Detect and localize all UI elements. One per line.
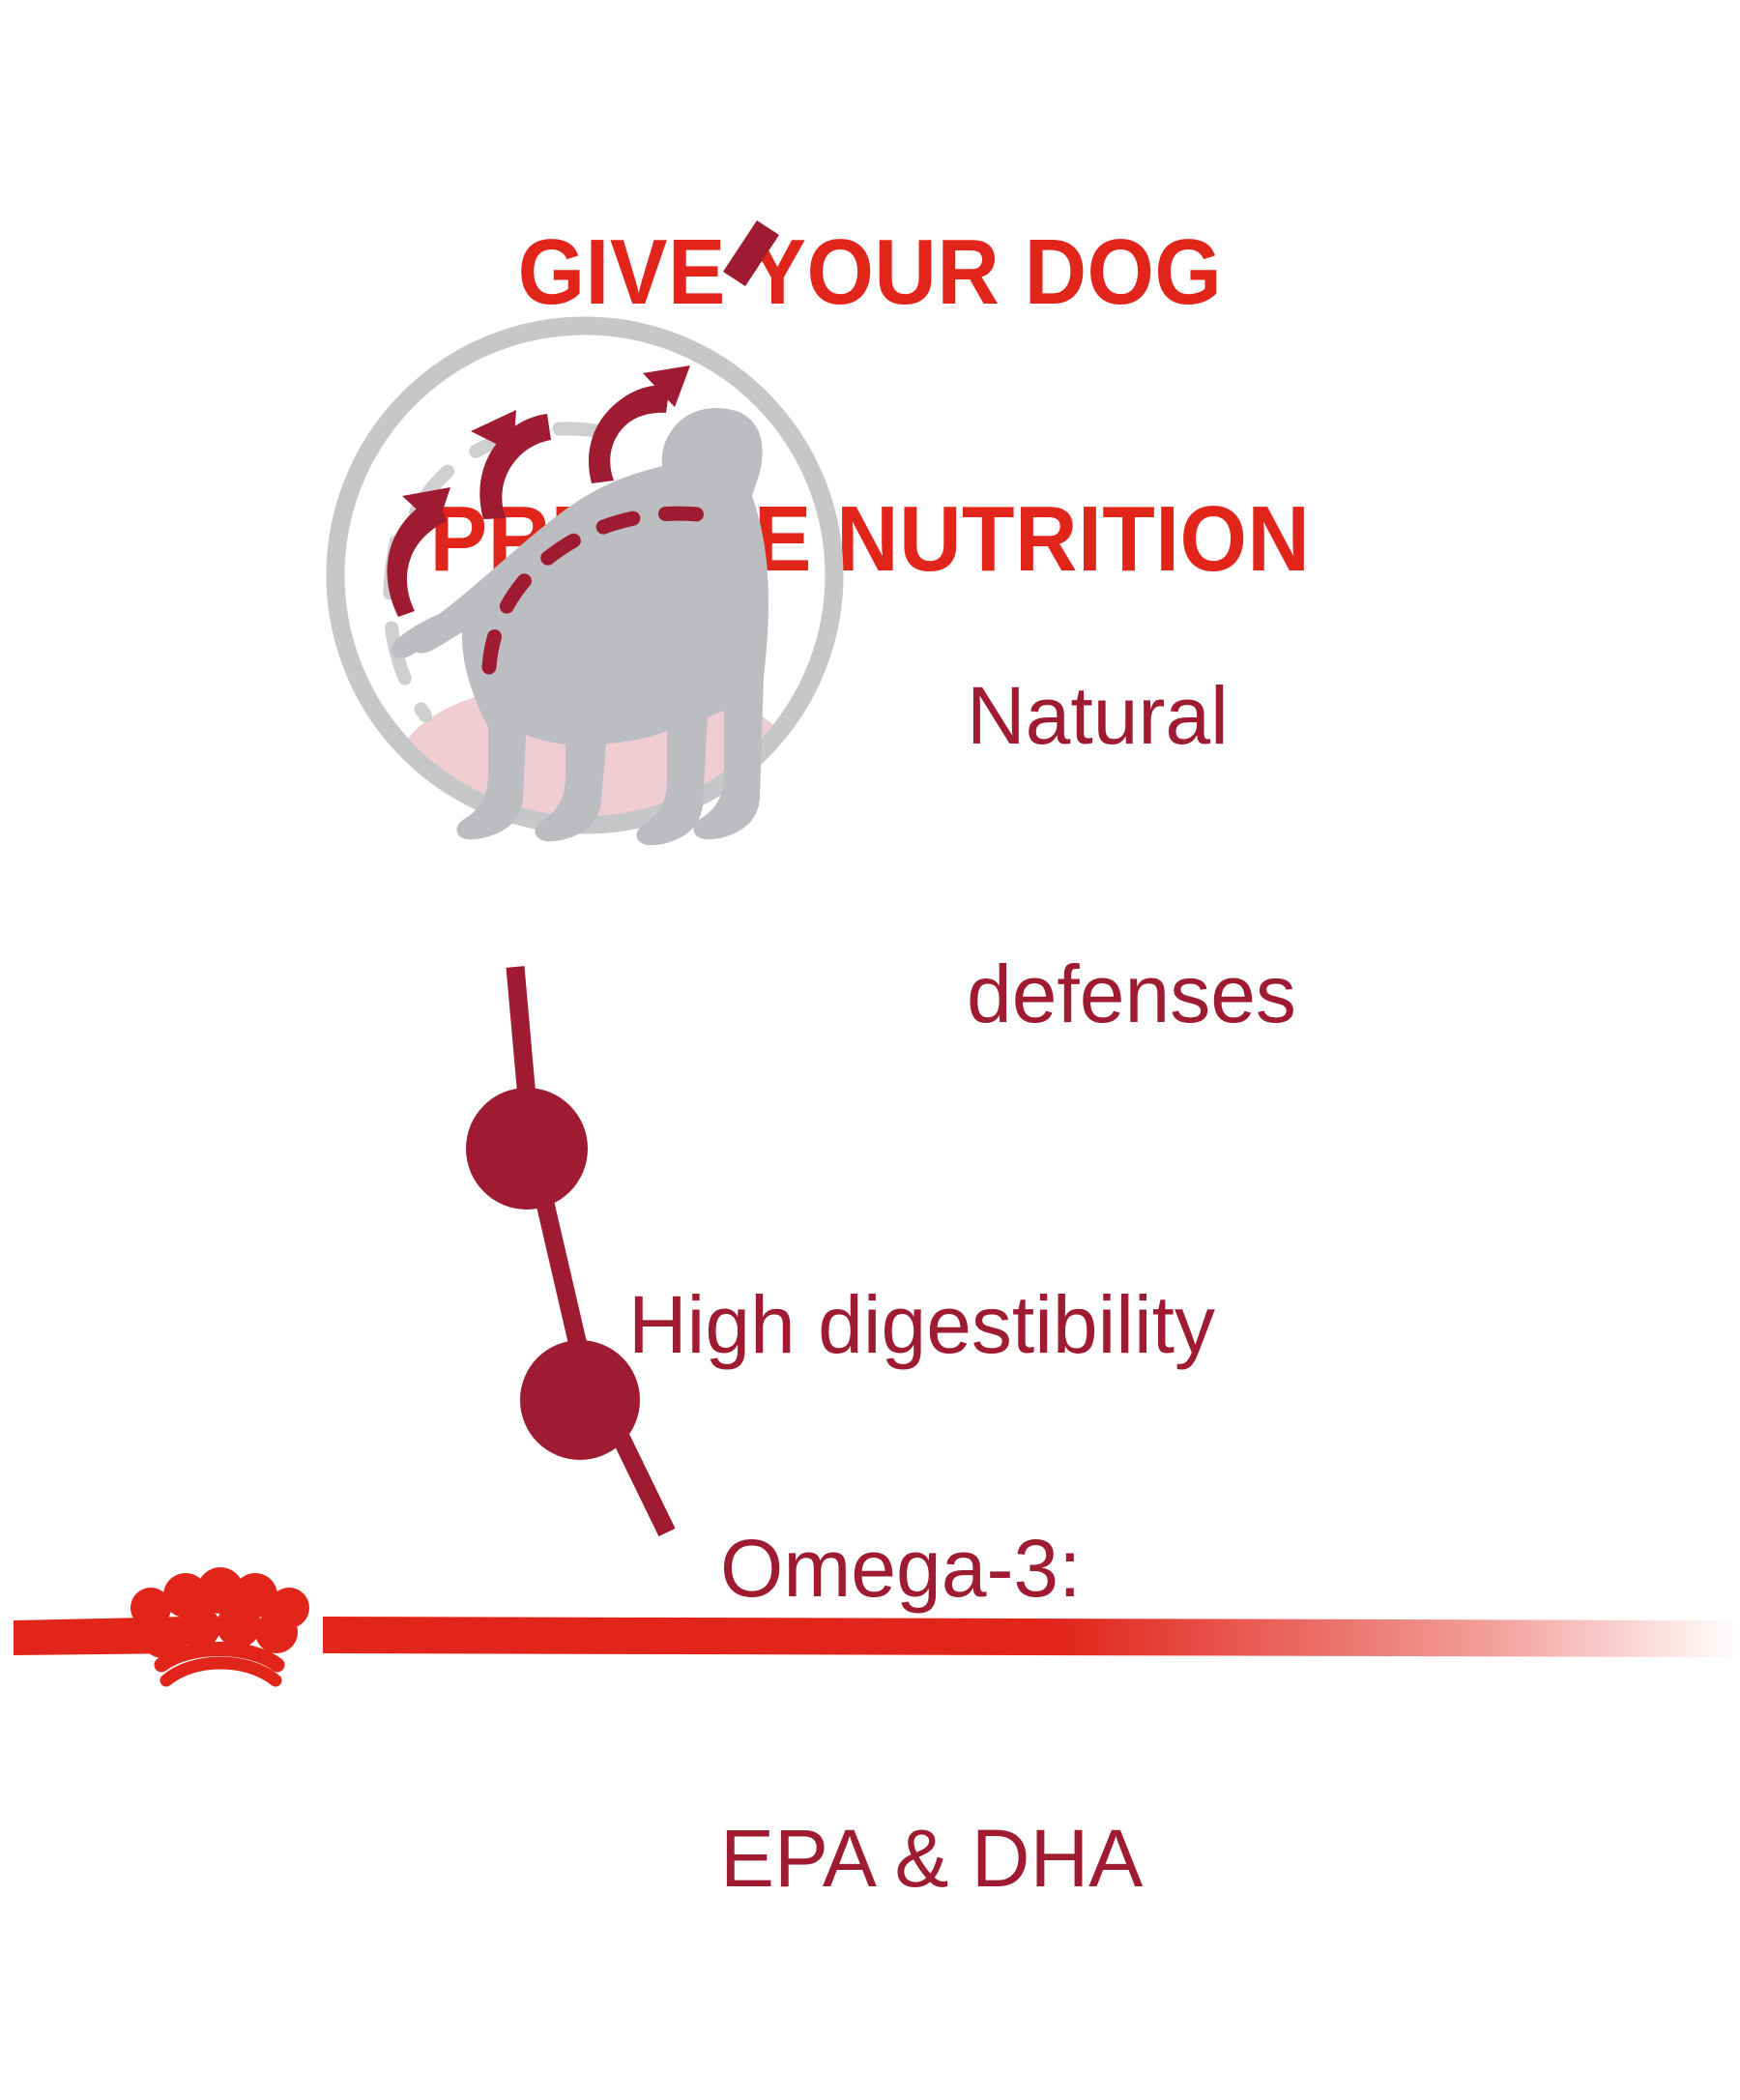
feature-natural-line-2: defenses: [967, 948, 1296, 1040]
headline-line-2: PRECISE NUTRITION: [61, 495, 1679, 584]
feature-omega-line-1: Omega-3:: [720, 1520, 1143, 1617]
feature-omega-line-2: EPA & DHA: [720, 1810, 1143, 1907]
crown-dot-bot-3: [217, 1603, 261, 1648]
headline-line-1: GIVE YOUR DOG: [61, 228, 1679, 317]
feature-natural-line-1: Natural: [967, 669, 1296, 762]
crown-dot-top-4: [233, 1573, 277, 1618]
poster-canvas: GIVE YOUR DOG PRECISE NUTRITION: [0, 0, 1740, 1740]
page-title: GIVE YOUR DOG PRECISE NUTRITION: [61, 50, 1679, 762]
crown-arc-lower: [166, 1663, 275, 1680]
crown-dot-bot-2: [178, 1606, 220, 1648]
crown-dot-top-3: [197, 1567, 244, 1614]
crown-dot-top-2: [163, 1573, 208, 1618]
connector-node-1: [466, 1088, 588, 1210]
connector-node-2: [520, 1340, 640, 1460]
crown-dot-bot-4: [255, 1611, 298, 1653]
crown-arc-upper: [161, 1649, 277, 1666]
crown-dot-bot-1: [142, 1618, 183, 1658]
footer-rule-left: [14, 1617, 188, 1655]
feature-label-omega-3: Omega-3: EPA & DHA: [720, 1327, 1143, 2100]
crown-dot-top-1: [130, 1588, 171, 1628]
crown-dot-top-5: [269, 1588, 309, 1628]
royal-canin-crown-logo: [130, 1567, 309, 1680]
